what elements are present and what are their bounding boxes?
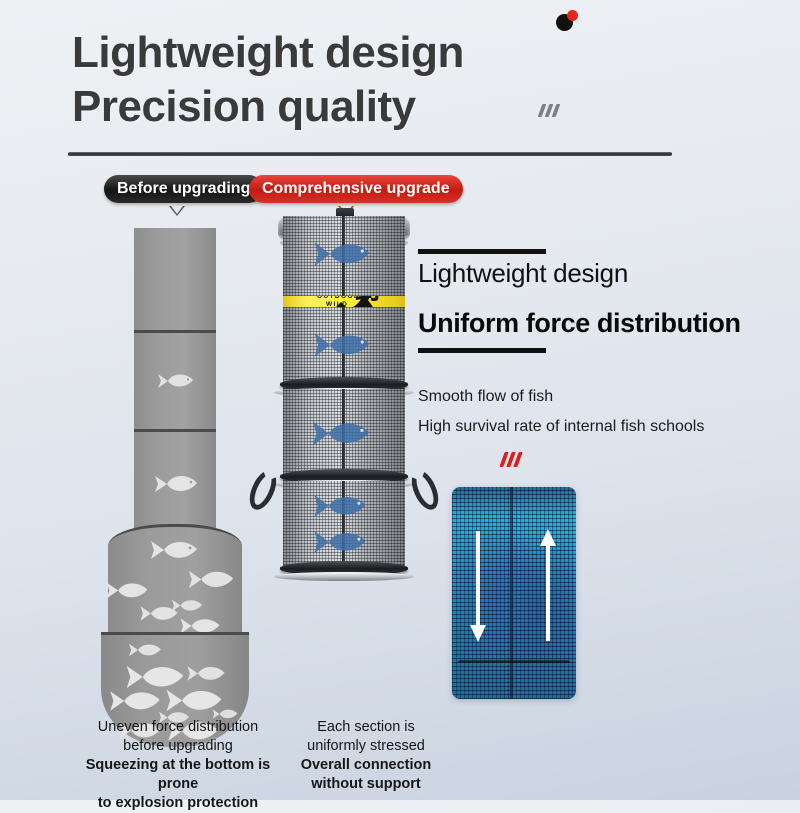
dot-decoration-icon (556, 10, 582, 32)
fish-icon (311, 527, 369, 557)
caption-left-line-2: before upgrading (78, 737, 278, 756)
fish-icon (186, 567, 236, 592)
fish-icon (148, 537, 200, 563)
right-text-bottom-rule (418, 348, 546, 353)
old-segment-2 (134, 330, 216, 429)
old-segment-3 (134, 429, 216, 530)
caption-left: Uneven force distribution before upgradi… (78, 718, 278, 813)
fish-icon (152, 472, 200, 496)
right-heading: Lightweight design (418, 258, 628, 289)
mesh-section-1 (283, 216, 405, 296)
up-arrow-icon (540, 529, 556, 641)
right-bullet-2: High survival rate of internal fish scho… (418, 418, 704, 436)
badge-comprehensive-upgrade: Comprehensive upgrade (249, 175, 463, 203)
caption-right: Each section is uniformly stressed Overa… (292, 718, 440, 794)
fish-icon (156, 371, 196, 391)
caption-left-line-1: Uneven force distribution (78, 718, 278, 737)
caption-right-line-1: Each section is (292, 718, 440, 737)
caption-right-line-2: uniformly stressed (292, 737, 440, 756)
infographic-canvas: Lightweight design Precision quality Bef… (0, 0, 800, 800)
gray-slashes-icon (538, 104, 561, 117)
old-segment-1 (134, 228, 216, 330)
fish-icon (185, 663, 227, 684)
mesh-section-2 (283, 307, 405, 389)
old-bulge-upper (108, 524, 242, 635)
fish-icon (311, 238, 373, 270)
cage-handle-left (244, 466, 281, 513)
badge-before-upgrading: Before upgrading (104, 175, 263, 203)
down-arrow-icon (470, 531, 486, 643)
fish-icon (311, 329, 373, 361)
fish-icon (309, 417, 373, 450)
title-line-2: Precision quality (72, 80, 464, 134)
mesh-section-4 (283, 481, 405, 571)
fish-icon (107, 687, 163, 715)
badge-before-pointer-icon (169, 206, 185, 216)
fish-icon (104, 579, 150, 602)
red-slashes-icon (499, 452, 522, 467)
old-design-column (134, 228, 216, 530)
header-divider (68, 152, 672, 156)
title-line-1: Lightweight design (72, 26, 464, 80)
cage-ring-bottom (274, 561, 414, 583)
caption-left-line-4: to explosion protection (98, 795, 258, 811)
underwater-photo-inset (452, 487, 576, 699)
fish-icon (127, 641, 163, 659)
caption-right-line-4: without support (311, 776, 421, 792)
cage-handle-right (406, 466, 443, 513)
page-title: Lightweight design Precision quality (72, 26, 464, 134)
mesh-section-3 (283, 389, 405, 481)
caption-left-line-3: Squeezing at the bottom is prone (86, 757, 270, 792)
fish-icon (170, 597, 204, 614)
right-subheading: Uniform force distribution (418, 308, 741, 339)
caption-right-line-3: Overall connection (301, 757, 432, 773)
right-bullet-1: Smooth flow of fish (418, 388, 553, 406)
product-fish-cage: OUTDOORS WILD 野 户外 (283, 216, 405, 571)
right-text-top-rule (418, 249, 546, 254)
fish-icon (311, 491, 369, 521)
